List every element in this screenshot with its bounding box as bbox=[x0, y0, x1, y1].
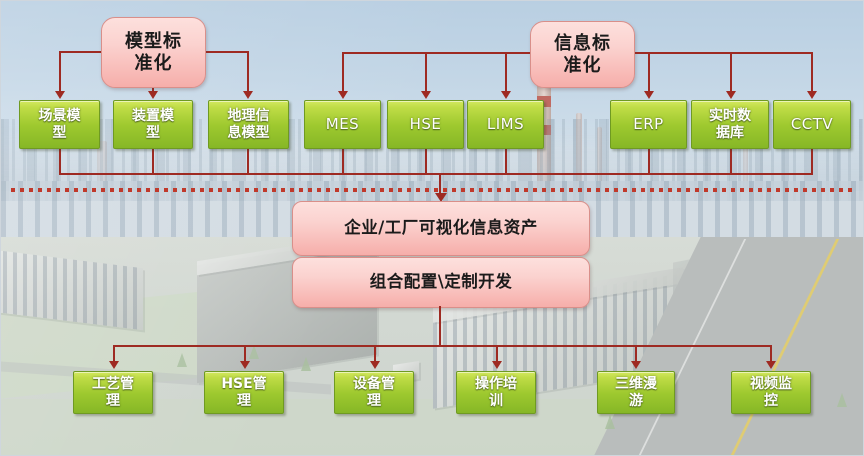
arrow-app-hse bbox=[240, 361, 250, 369]
source-box-device-model[interactable]: 装置模 型 bbox=[113, 100, 193, 149]
connector-application-distribution-bar bbox=[113, 345, 770, 347]
connector-platform-drop bbox=[439, 306, 441, 346]
connector-info-down-mes bbox=[342, 52, 344, 93]
riser-scene-model bbox=[59, 149, 61, 175]
riser-erp bbox=[648, 149, 650, 175]
source-box-realtime-db[interactable]: 实时数 据库 bbox=[691, 100, 769, 149]
application-box-video-surveillance[interactable]: 视频监 控 bbox=[731, 371, 811, 414]
collector-bar-top bbox=[59, 173, 813, 175]
source-box-mes[interactable]: MES bbox=[304, 100, 381, 149]
source-box-cctv[interactable]: CCTV bbox=[773, 100, 851, 149]
connector-model-down-1 bbox=[59, 51, 61, 93]
source-box-hse[interactable]: HSE bbox=[387, 100, 464, 149]
diagram-canvas: 模型标 准化 信息标 准化 场景模 型 装置模 型 地理信 息模型 MES HS… bbox=[0, 0, 864, 456]
connector-info-down-hse bbox=[425, 52, 427, 93]
application-box-equipment-management[interactable]: 设备管 理 bbox=[334, 371, 414, 414]
riser-hse bbox=[425, 149, 427, 175]
arrow-model-3 bbox=[243, 91, 253, 99]
connector-info-down-realtimedb bbox=[730, 52, 732, 93]
arrow-info-cctv bbox=[807, 91, 817, 99]
riser-cctv bbox=[811, 149, 813, 175]
riser-mes bbox=[342, 149, 344, 175]
arrow-app-equipment bbox=[370, 361, 380, 369]
arrow-model-2 bbox=[148, 91, 158, 99]
riser-lims bbox=[505, 149, 507, 175]
riser-device-model bbox=[152, 149, 154, 175]
platform-box-visual-information-asset[interactable]: 企业/工厂可视化信息资产 bbox=[292, 201, 590, 256]
arrow-app-training bbox=[492, 361, 502, 369]
source-box-lims[interactable]: LIMS bbox=[467, 100, 544, 149]
arrow-model-1 bbox=[55, 91, 65, 99]
arrow-app-process bbox=[109, 361, 119, 369]
arrow-info-mes bbox=[338, 91, 348, 99]
arrow-app-video bbox=[766, 361, 776, 369]
riser-realtimedb bbox=[730, 149, 732, 175]
standard-box-model-standardization[interactable]: 模型标 准化 bbox=[101, 17, 206, 88]
application-box-process-management[interactable]: 工艺管 理 bbox=[73, 371, 153, 414]
divider-dotted-red bbox=[11, 188, 853, 192]
connector-info-down-lims bbox=[505, 52, 507, 93]
connector-info-down-erp bbox=[648, 52, 650, 93]
connector-info-down-cctv bbox=[811, 52, 813, 93]
riser-gis-model bbox=[247, 149, 249, 175]
arrow-info-lims bbox=[501, 91, 511, 99]
application-box-hse-management[interactable]: HSE管 理 bbox=[204, 371, 284, 414]
arrow-info-erp bbox=[644, 91, 654, 99]
arrow-info-realtimedb bbox=[726, 91, 736, 99]
application-box-operation-training[interactable]: 操作培 训 bbox=[456, 371, 536, 414]
connector-model-down-3 bbox=[247, 51, 249, 93]
source-box-gis-model[interactable]: 地理信 息模型 bbox=[208, 100, 289, 149]
source-box-erp[interactable]: ERP bbox=[610, 100, 687, 149]
arrow-info-hse bbox=[421, 91, 431, 99]
arrow-app-roaming bbox=[631, 361, 641, 369]
application-box-3d-roaming[interactable]: 三维漫 游 bbox=[597, 371, 675, 414]
standard-box-information-standardization[interactable]: 信息标 准化 bbox=[530, 21, 635, 88]
source-box-scene-model[interactable]: 场景模 型 bbox=[19, 100, 100, 149]
platform-box-composition-custom-development[interactable]: 组合配置\定制开发 bbox=[292, 257, 590, 308]
